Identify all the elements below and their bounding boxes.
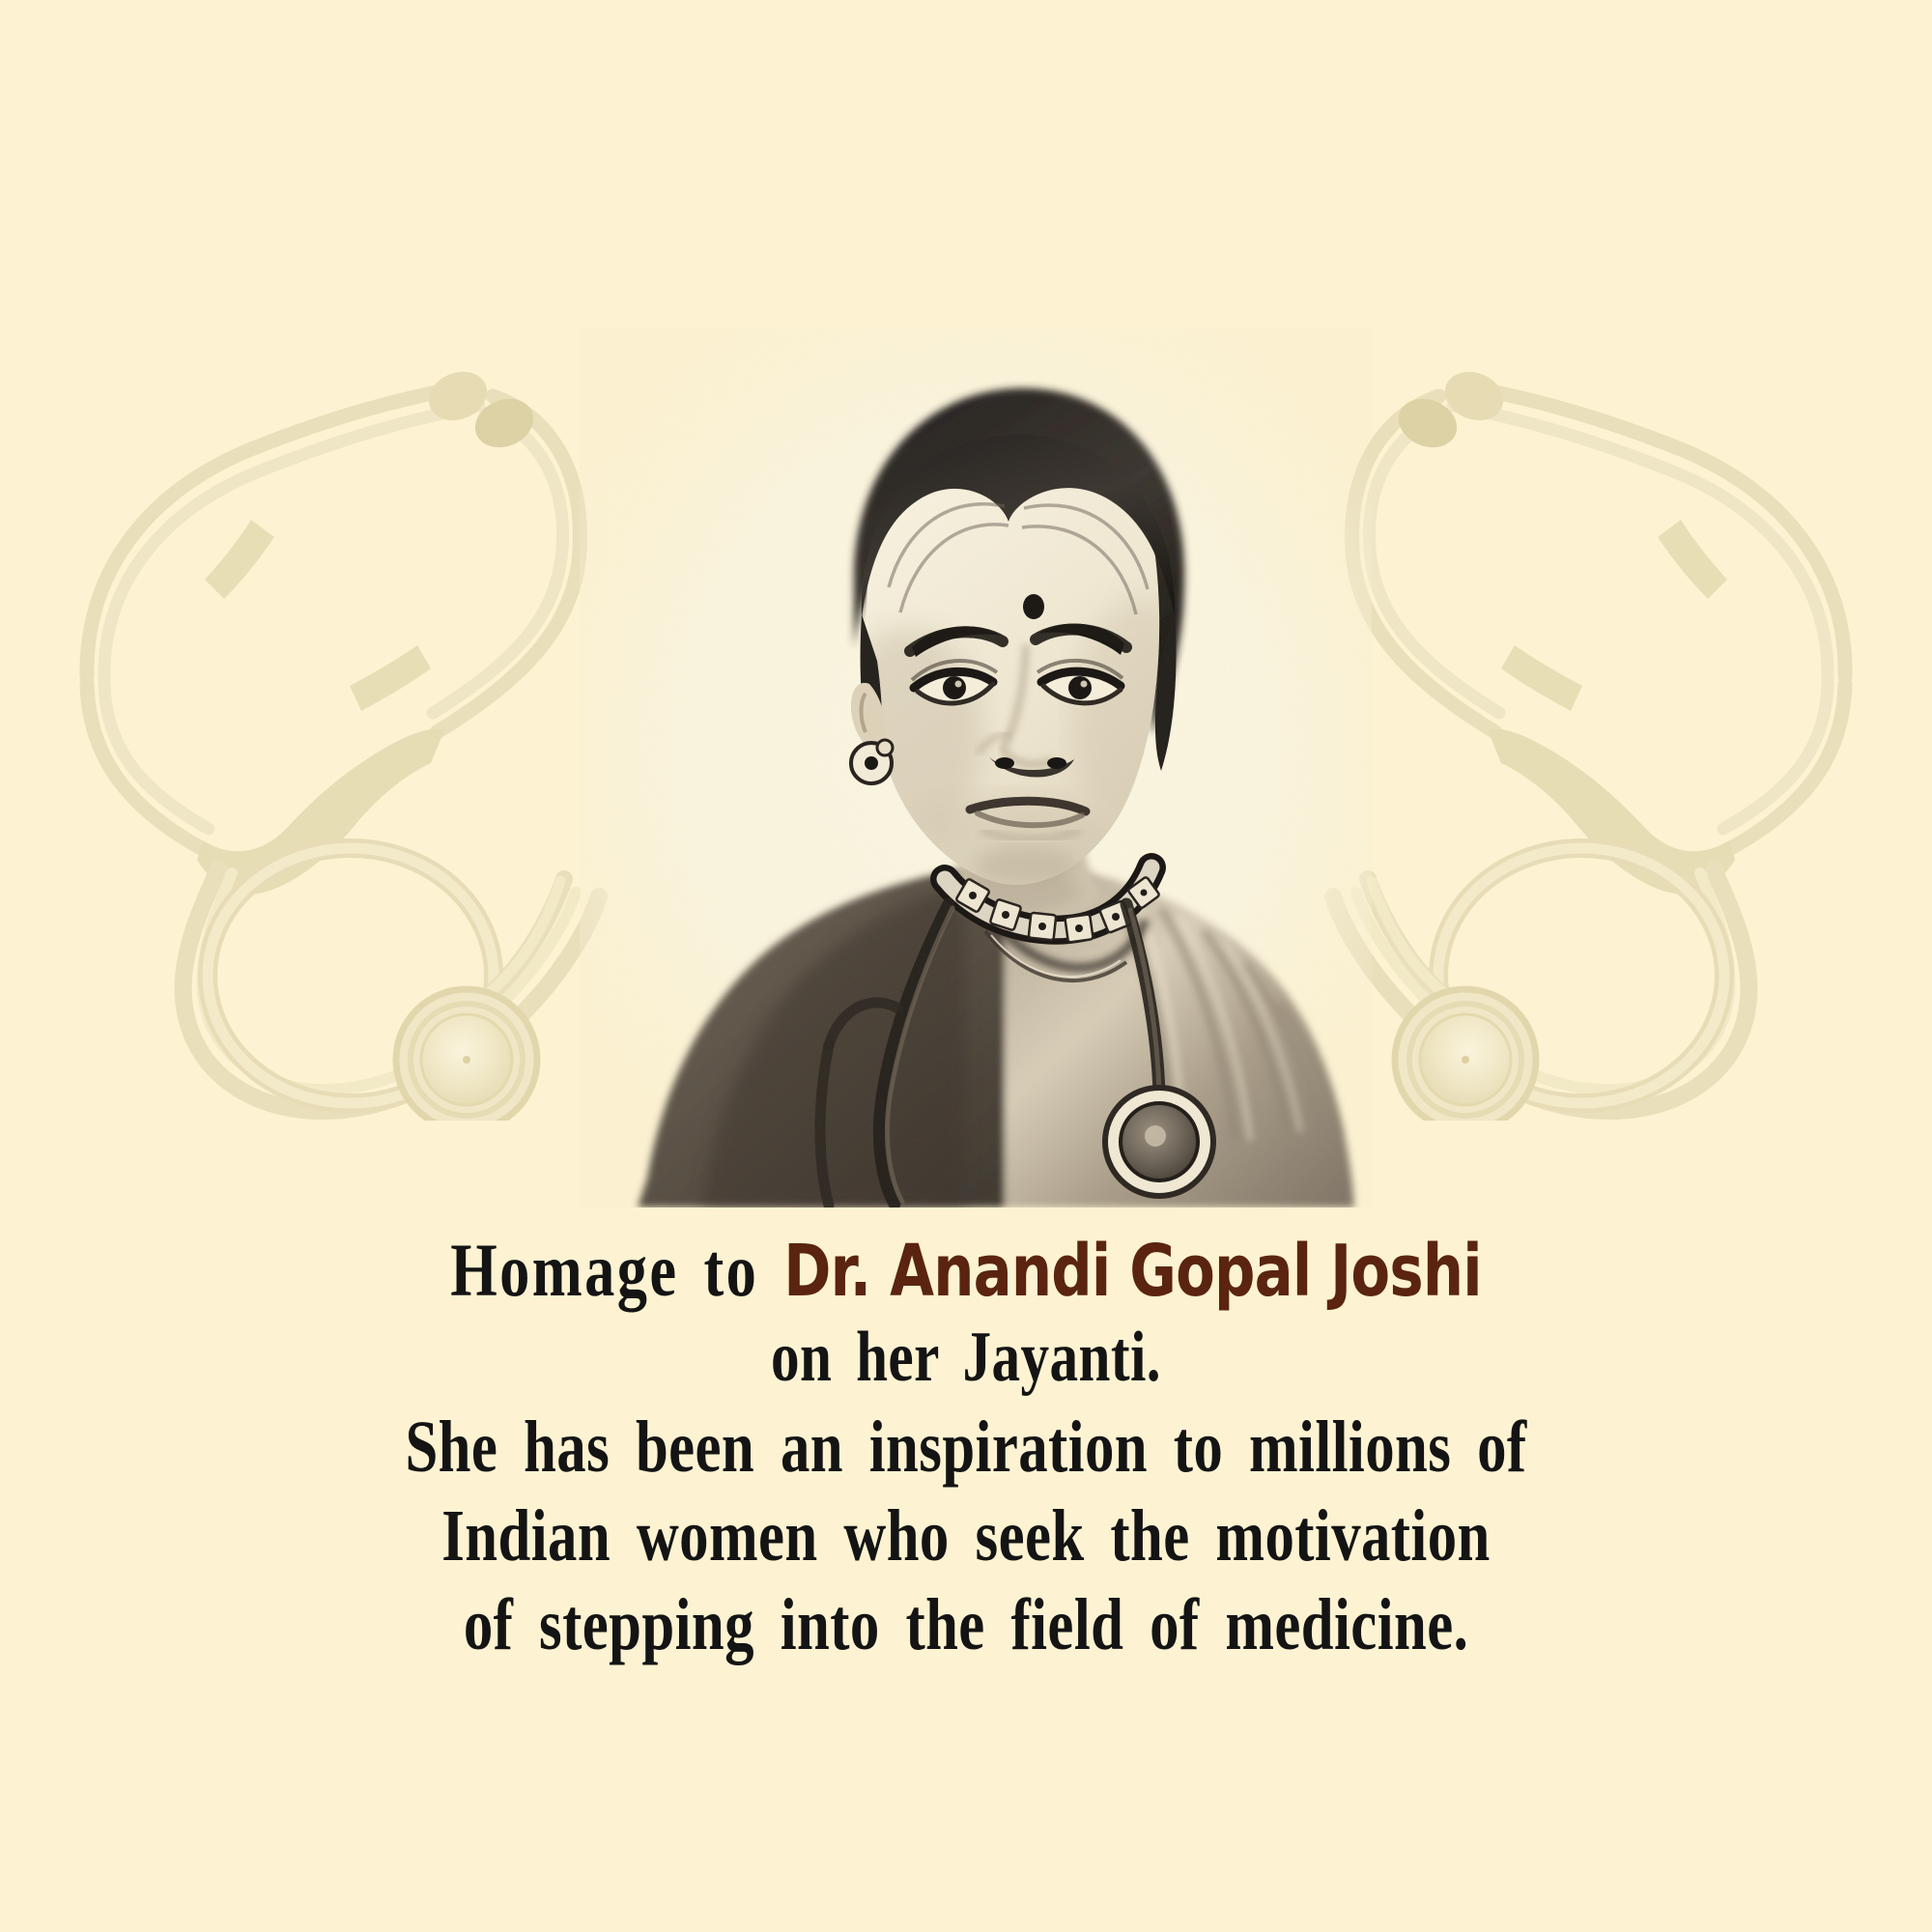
- stethoscope-watermark-left: [58, 357, 657, 1121]
- caption-block: Homage to Dr. Anandi Gopal Joshi on her …: [0, 1229, 1932, 1673]
- ear-tip-icon: [421, 363, 540, 456]
- caption-line-1: Homage to Dr. Anandi Gopal Joshi: [193, 1229, 1739, 1318]
- stethoscope-chestpiece-icon: [1395, 989, 1536, 1121]
- portrait-sketch: [580, 328, 1372, 1207]
- worn-stethoscope-bell: [1105, 1088, 1213, 1196]
- caption-line-2: on her Jayanti.: [193, 1318, 1739, 1406]
- caption-line-5: of stepping into the field of medicine.: [193, 1584, 1739, 1673]
- stethoscope-chestpiece-icon: [396, 989, 537, 1121]
- bindi: [1023, 594, 1044, 619]
- honoree-name: Dr. Anandi Gopal Joshi: [783, 1230, 1482, 1313]
- tribute-poster: Homage to Dr. Anandi Gopal Joshi on her …: [0, 0, 1932, 1932]
- ear-tip-icon: [1391, 363, 1510, 456]
- homage-prefix: Homage to: [450, 1228, 783, 1312]
- caption-line-4: Indian women who seek the motivation: [193, 1495, 1739, 1584]
- caption-line-3: She has been an inspiration to millions …: [193, 1406, 1739, 1495]
